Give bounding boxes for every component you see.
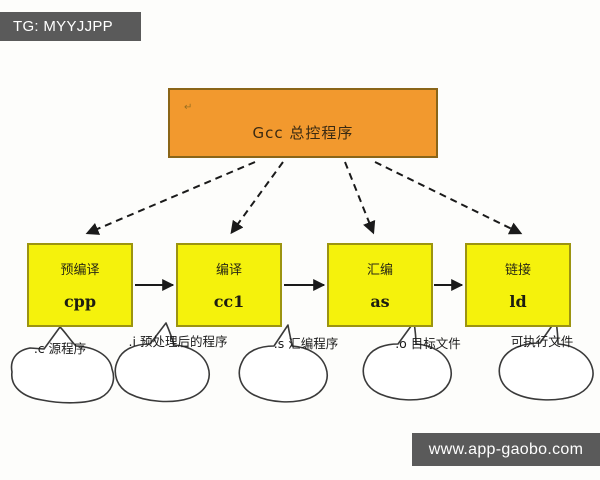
bubble-i-preprocessed — [115, 323, 209, 401]
watermark-bottom-right: www.app-gaobo.com — [412, 433, 600, 466]
dashed-arrow-to-as — [345, 162, 373, 232]
stage-label-cn: 汇编 — [367, 259, 393, 278]
stage-label-cn: 链接 — [505, 259, 531, 278]
pilcrow-mark: ↵ — [184, 102, 192, 113]
diagram-vector-layer — [0, 0, 600, 480]
bubble-executable — [499, 320, 593, 400]
dashed-arrow-to-cpp — [88, 162, 255, 233]
stage-label-en: cpp — [64, 292, 96, 311]
bubble-c-source — [12, 327, 114, 403]
watermark-top-left: TG: MYYJJPP — [0, 12, 141, 41]
stage-label-en: cc1 — [214, 292, 245, 311]
dashed-connectors — [88, 162, 520, 233]
bubble-s-assembly — [239, 325, 327, 402]
stage-label-en: ld — [509, 292, 526, 311]
stage-box-assemble: 汇编 as — [327, 243, 433, 327]
gcc-driver-label: Gcc 总控程序 — [253, 122, 354, 143]
diagram-canvas: ↵ Gcc 总控程序 预编译 cpp 编译 cc1 汇编 as 链接 ld .c… — [0, 0, 600, 480]
stage-box-compile: 编译 cc1 — [176, 243, 282, 327]
stage-label-en: as — [370, 292, 389, 311]
dashed-arrow-to-ld — [375, 162, 520, 233]
stage-label-cn: 预编译 — [60, 259, 99, 278]
artifact-bubbles — [12, 320, 594, 403]
stage-label-cn: 编译 — [216, 259, 242, 278]
bubble-o-object — [363, 322, 451, 400]
gcc-driver-box: ↵ Gcc 总控程序 — [168, 88, 438, 158]
stage-box-preprocess: 预编译 cpp — [27, 243, 133, 327]
dashed-arrow-to-cc1 — [232, 162, 283, 232]
stage-box-link: 链接 ld — [465, 243, 571, 327]
